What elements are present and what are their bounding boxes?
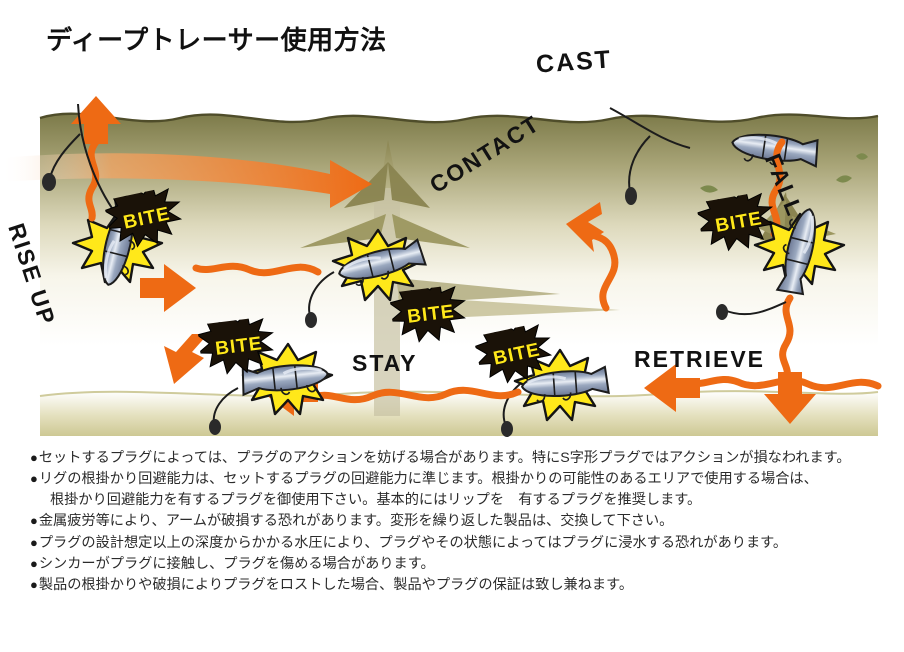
stage-label-cast: CAST bbox=[535, 45, 613, 79]
note-item: ● シンカーがプラグに接触し、プラグを傷める場合があります。 bbox=[30, 554, 880, 574]
bite-badge-label: BITE bbox=[389, 283, 473, 346]
note-text: 根掛かり回避能力を有するプラグを御使用下さい。基本的にはリップを 有するプラグを… bbox=[50, 490, 880, 510]
note-text: 金属疲労等により、アームが破損する恐れがあります。変形を繰り返した製品は、交換し… bbox=[39, 511, 880, 531]
note-item: ● プラグの設計想定以上の深度からかかる水圧により、プラグやその状態によってはプ… bbox=[30, 533, 880, 553]
page-title: ディープトレーサー使用方法 bbox=[46, 20, 387, 57]
stage-label-retrieve: RETRIEVE bbox=[634, 346, 765, 373]
scene-illustration bbox=[0, 96, 904, 444]
note-bullet: ● bbox=[30, 469, 38, 489]
note-text: プラグの設計想定以上の深度からかかる水圧により、プラグやその状態によってはプラグ… bbox=[39, 533, 880, 553]
note-item-continuation: 根掛かり回避能力を有するプラグを御使用下さい。基本的にはリップを 有するプラグを… bbox=[30, 490, 880, 510]
note-bullet: ● bbox=[30, 511, 38, 531]
note-bullet: ● bbox=[30, 554, 38, 574]
bite-badge: BITE bbox=[197, 315, 281, 378]
bite-badge-label: BITE bbox=[197, 315, 281, 378]
note-bullet: ● bbox=[30, 575, 38, 595]
note-text: シンカーがプラグに接触し、プラグを傷める場合があります。 bbox=[39, 554, 880, 574]
stage-label-stay: STAY bbox=[352, 350, 418, 377]
note-bullet: ● bbox=[30, 533, 38, 553]
note-text: セットするプラグによっては、プラグのアクションを妨げる場合があります。特にS字形… bbox=[39, 448, 880, 468]
note-text: 製品の根掛かりや破損によりプラグをロストした場合、製品やプラグの保証は致し兼ねま… bbox=[39, 575, 880, 595]
bite-badge: BITE bbox=[389, 283, 473, 346]
note-item: ● リグの根掛かり回避能力は、セットするプラグの回避能力に準じます。根掛かりの可… bbox=[30, 469, 880, 489]
note-item: ● 金属疲労等により、アームが破損する恐れがあります。変形を繰り返した製品は、交… bbox=[30, 511, 880, 531]
note-text: リグの根掛かり回避能力は、セットするプラグの回避能力に準じます。根掛かりの可能性… bbox=[39, 469, 880, 489]
note-item: ● セットするプラグによっては、プラグのアクションを妨げる場合があります。特にS… bbox=[30, 448, 880, 468]
diagram-page: ディープトレーサー使用方法 bbox=[0, 0, 904, 652]
note-bullet: ● bbox=[30, 448, 38, 468]
note-item: ● 製品の根掛かりや破損によりプラグをロストした場合、製品やプラグの保証は致し兼… bbox=[30, 575, 880, 595]
notes-list: ● セットするプラグによっては、プラグのアクションを妨げる場合があります。特にS… bbox=[30, 448, 880, 596]
lake-bed bbox=[40, 391, 878, 436]
